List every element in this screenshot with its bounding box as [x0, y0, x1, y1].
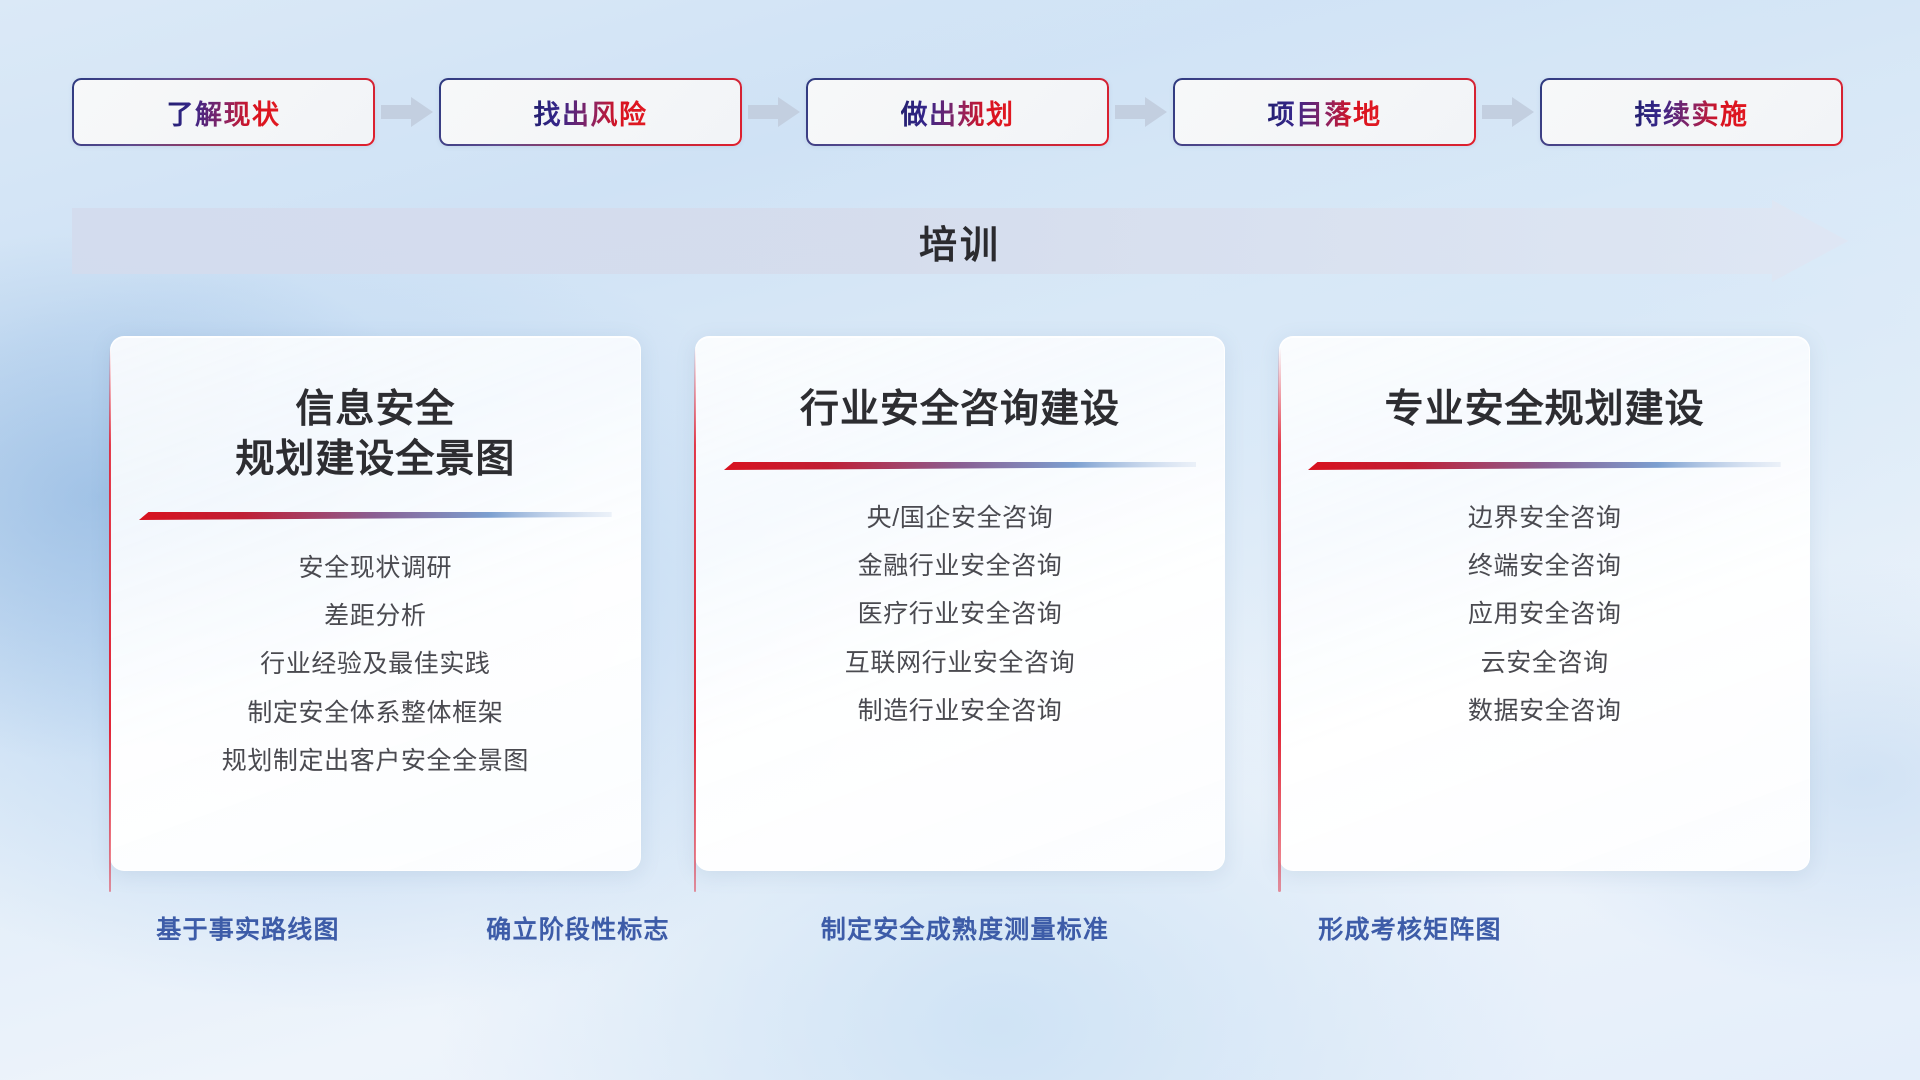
service-card-2[interactable]: 行业安全咨询建设 央/国企安全咨询 [695, 336, 1226, 871]
right-arrow-icon [375, 95, 439, 129]
list-item: 终端安全咨询 [1468, 548, 1622, 584]
footer-label-3: 制定安全成熟度测量标准 [821, 910, 1109, 946]
card-list-2: 央/国企安全咨询 金融行业安全咨询 医疗行业安全咨询 互联网行业安全咨询 制造行… [845, 500, 1075, 729]
service-card-1[interactable]: 信息安全 规划建设全景图 安全现状调研 [110, 336, 641, 871]
list-item: 制造行业安全咨询 [858, 693, 1063, 729]
step-box-1[interactable]: 了解现状 [72, 78, 375, 146]
service-card-3[interactable]: 专业安全规划建设 边界安全咨询 [1279, 336, 1810, 871]
right-arrow-icon [742, 95, 806, 129]
card-list-1: 安全现状调研 差距分析 行业经验及最佳实践 制定安全体系整体框架 规划制定出客户… [222, 550, 529, 779]
slide-canvas: 了解现状 找出风险 做出规划 项目落地 持续实施 [0, 0, 1920, 1080]
step-label-4: 项目落地 [1268, 93, 1382, 132]
list-item: 应用安全咨询 [1468, 596, 1622, 632]
card-divider-2 [724, 461, 1197, 470]
step-label-3: 做出规划 [901, 93, 1015, 132]
list-item: 金融行业安全咨询 [858, 548, 1063, 584]
footer-label-row: 基于事实路线图 确立阶段性标志 制定安全成熟度测量标准 形成考核矩阵图 [0, 910, 1920, 956]
card-title-2: 行业安全咨询建设 [800, 385, 1120, 435]
right-arrow-icon [1109, 95, 1173, 129]
list-item: 云安全咨询 [1481, 645, 1609, 681]
step-label-2: 找出风险 [534, 93, 648, 132]
card-divider-3 [1308, 461, 1781, 470]
list-item: 安全现状调研 [299, 550, 453, 586]
list-item: 行业经验及最佳实践 [260, 646, 490, 682]
list-item: 医疗行业安全咨询 [858, 596, 1063, 632]
list-item: 制定安全体系整体框架 [247, 695, 503, 731]
list-item: 央/国企安全咨询 [867, 500, 1054, 536]
list-item: 互联网行业安全咨询 [845, 645, 1075, 681]
step-label-1: 了解现状 [167, 93, 281, 132]
footer-label-4: 形成考核矩阵图 [1318, 910, 1501, 946]
list-item: 规划制定出客户安全全景图 [222, 743, 529, 779]
card-list-3: 边界安全咨询 终端安全咨询 应用安全咨询 云安全咨询 数据安全咨询 [1468, 500, 1622, 729]
list-item: 边界安全咨询 [1468, 500, 1622, 536]
step-box-5[interactable]: 持续实施 [1540, 78, 1843, 146]
list-item: 数据安全咨询 [1468, 693, 1622, 729]
card-title-1: 信息安全 规划建设全景图 [235, 385, 515, 485]
step-box-2[interactable]: 找出风险 [439, 78, 742, 146]
step-box-4[interactable]: 项目落地 [1173, 78, 1476, 146]
footer-label-1: 基于事实路线图 [156, 910, 339, 946]
step-label-5: 持续实施 [1635, 93, 1749, 132]
service-card-row: 信息安全 规划建设全景图 安全现状调研 [110, 336, 1810, 871]
card-divider-1 [139, 511, 612, 520]
training-banner: 培训 [72, 200, 1848, 282]
right-arrow-icon [1476, 95, 1540, 129]
card-title-3: 专业安全规划建设 [1385, 385, 1705, 435]
process-step-row: 了解现状 找出风险 做出规划 项目落地 持续实施 [72, 78, 1848, 146]
step-box-3[interactable]: 做出规划 [806, 78, 1109, 146]
banner-label: 培训 [72, 200, 1848, 282]
list-item: 差距分析 [324, 598, 426, 634]
footer-label-2: 确立阶段性标志 [486, 910, 669, 946]
